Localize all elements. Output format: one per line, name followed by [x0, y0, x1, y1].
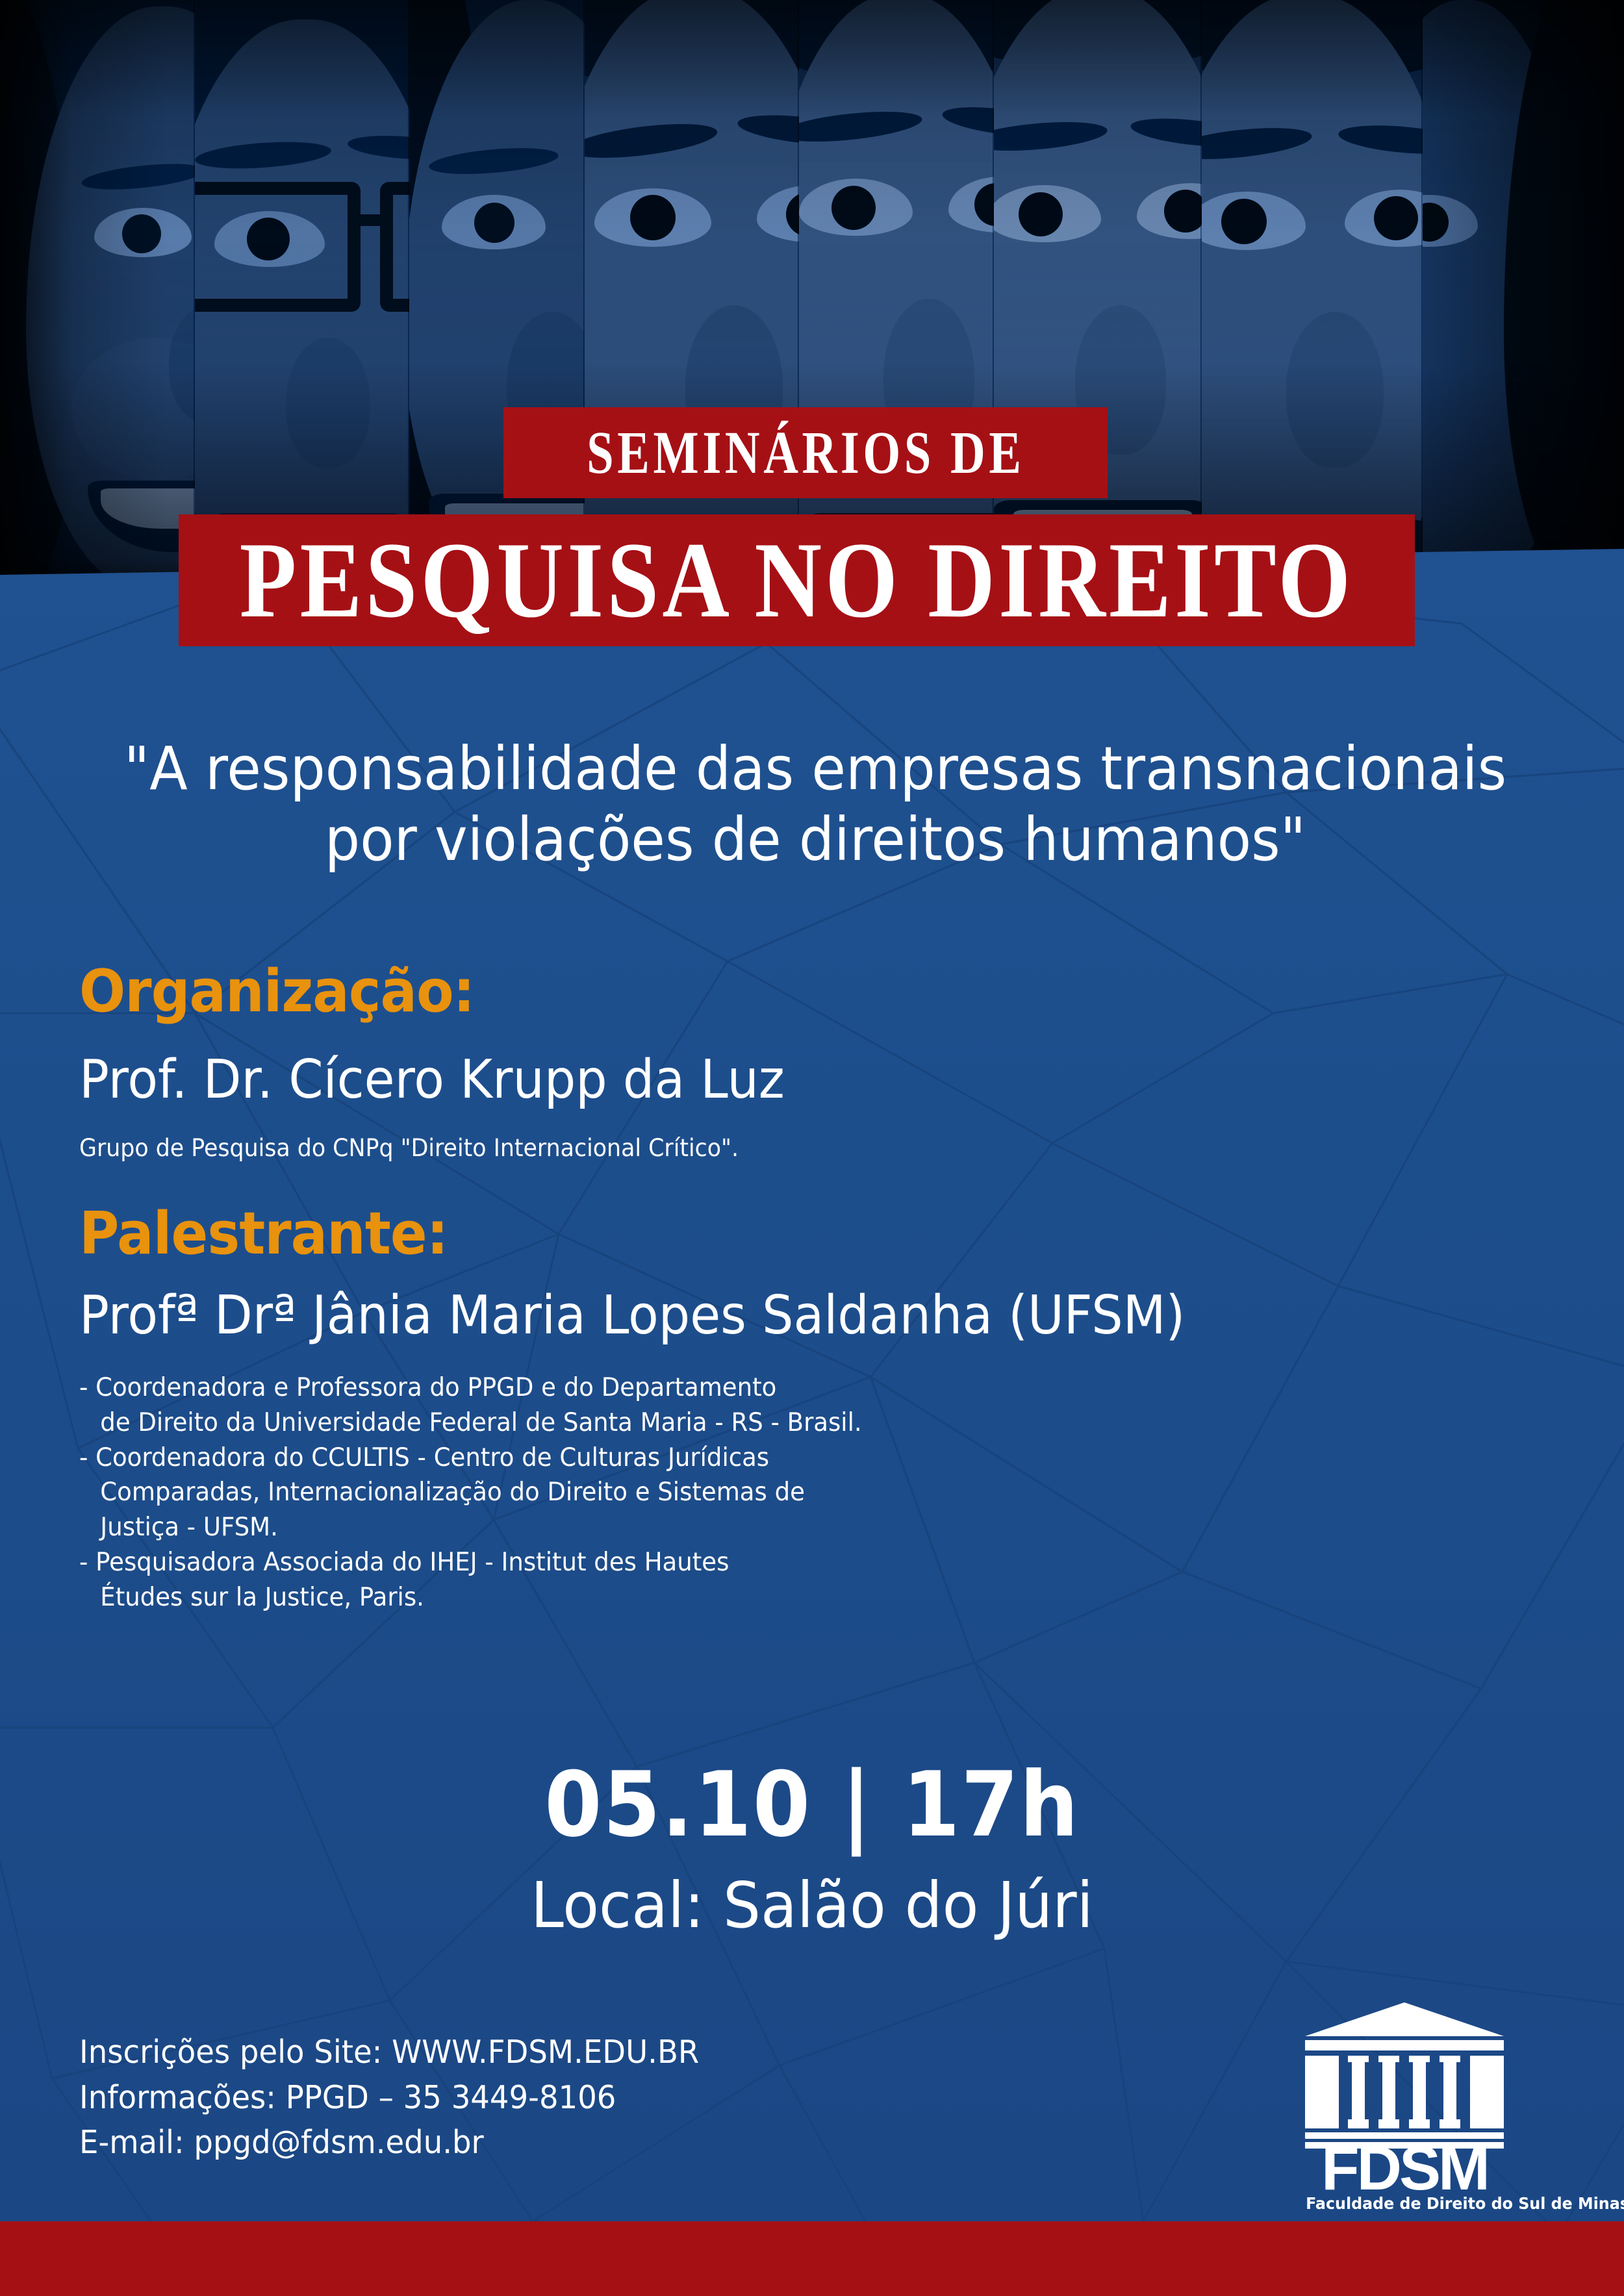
fdsm-acronym: FDSM [1321, 2134, 1488, 2192]
footer-red-bar [0, 2221, 1624, 2296]
right-pier [1470, 2056, 1504, 2128]
column-5 [1463, 2056, 1482, 2062]
column-3 [1409, 2056, 1430, 2128]
speaker-bio-item: - Pesquisadora Associada do IHEJ - Insti… [79, 1545, 1005, 1615]
fdsm-tagline: Faculdade de Direito do Sul de Minas [1306, 2194, 1624, 2213]
poster-content: "A responsabilidade das empresas transna… [0, 0, 1624, 2296]
poster-root: SEMINÁRIOS DE PESQUISA NO DIREITO "A res… [0, 0, 1624, 2296]
event-datetime: 05.10 | 17h [65, 1760, 1559, 1850]
column-2 [1378, 2056, 1399, 2128]
speaker-bio-item: - Coordenadora do CCULTIS - Centro de Cu… [79, 1441, 1005, 1545]
organizer-research-group: Grupo de Pesquisa do CNPq "Direito Inter… [79, 1133, 739, 1163]
poster-subtitle: "A responsabilidade das empresas transna… [123, 734, 1507, 875]
contact-website-line[interactable]: Inscrições pelo Site: WWW.FDSM.EDU.BR [79, 2030, 699, 2075]
contact-phone-line[interactable]: Informações: PPGD – 35 3449-8106 [79, 2075, 699, 2121]
organizer-name: Prof. Dr. Cícero Krupp da Luz [79, 1053, 785, 1107]
fdsm-logo: FDSM [1297, 1997, 1512, 2192]
columns-group [1348, 2056, 1482, 2128]
speaker-bio-item: - Coordenadora e Professora do PPGD e do… [79, 1370, 1005, 1441]
contact-email-line[interactable]: E-mail: ppgd@fdsm.edu.br [79, 2120, 699, 2165]
column-1 [1348, 2056, 1369, 2128]
speaker-heading: Palestrante: [79, 1205, 448, 1263]
architrave-bar [1305, 2040, 1504, 2050]
contact-block: Inscrições pelo Site: WWW.FDSM.EDU.BR In… [79, 2030, 731, 2165]
speaker-name: Profª Drª Jânia Maria Lopes Saldanha (UF… [79, 1289, 1185, 1343]
organization-heading: Organização: [79, 963, 474, 1021]
column-4 [1440, 2056, 1460, 2128]
pediment-roof-icon [1305, 2002, 1504, 2036]
speaker-bio-list: - Coordenadora e Professora do PPGD e do… [79, 1370, 1054, 1615]
event-location: Local: Salão do Júri [49, 1874, 1575, 1937]
left-pier [1305, 2056, 1339, 2128]
